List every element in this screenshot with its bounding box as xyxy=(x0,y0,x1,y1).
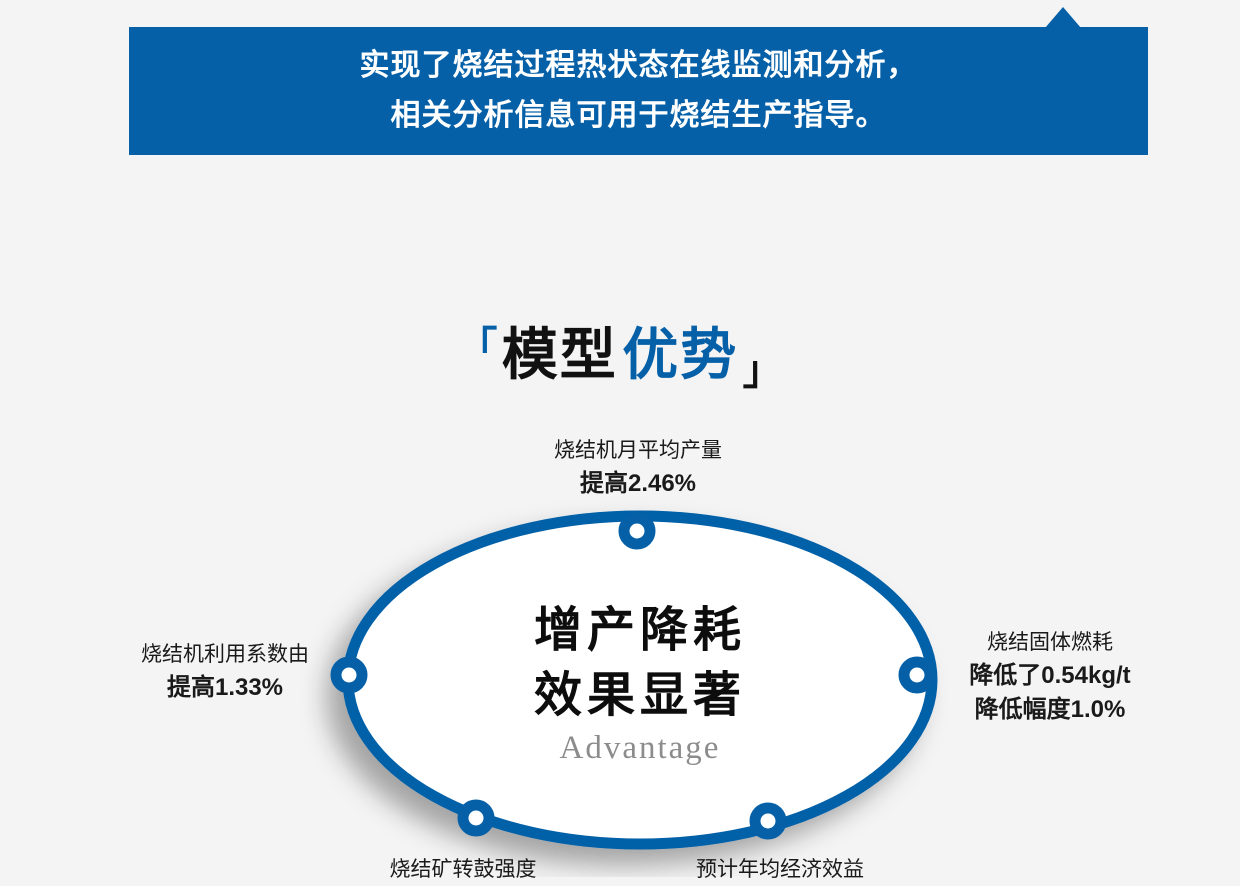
ellipse-shadow-group xyxy=(348,516,932,844)
label-left: 烧结机利用系数由 提高1.33% xyxy=(100,638,350,705)
node-marker-right[interactable] xyxy=(904,662,930,688)
bracket-close-icon: 」 xyxy=(743,349,783,393)
label-bottom-left: 烧结矿转鼓强度 xyxy=(303,853,623,886)
label-top-value: 提高2.46% xyxy=(478,467,798,501)
label-bottom-right-title: 预计年均经济效益 xyxy=(620,853,940,886)
node-marker-bottom-left[interactable] xyxy=(463,805,489,831)
label-right-value: 降低了0.54kg/t xyxy=(930,659,1170,693)
headline-banner-text: 实现了烧结过程热状态在线监测和分析， 相关分析信息可用于烧结生产指导。 xyxy=(129,27,1148,155)
node-marker-bottom-right[interactable] xyxy=(755,808,781,834)
label-right-title: 烧结固体燃耗 xyxy=(930,626,1170,659)
banner-line-2: 相关分析信息可用于烧结生产指导。 xyxy=(391,91,887,141)
label-top-title: 烧结机月平均产量 xyxy=(478,434,798,467)
slide-canvas: 实现了烧结过程热状态在线监测和分析， 相关分析信息可用于烧结生产指导。 「 模型… xyxy=(0,0,1240,877)
headline-banner: 实现了烧结过程热状态在线监测和分析， 相关分析信息可用于烧结生产指导。 xyxy=(129,27,1148,155)
label-right-value-2: 降低幅度1.0% xyxy=(930,693,1170,727)
label-right: 烧结固体燃耗 降低了0.54kg/t 降低幅度1.0% xyxy=(930,626,1170,727)
label-left-title: 烧结机利用系数由 xyxy=(100,638,350,671)
advantage-ellipse xyxy=(348,516,932,844)
label-bottom-right: 预计年均经济效益 xyxy=(620,853,940,886)
triangle-up-icon xyxy=(1045,7,1081,28)
bracket-open-icon: 「 xyxy=(457,325,497,369)
label-left-value: 提高1.33% xyxy=(100,671,350,705)
node-marker-top[interactable] xyxy=(624,518,650,544)
label-top: 烧结机月平均产量 提高2.46% xyxy=(478,434,798,501)
section-heading-accent: 优势 xyxy=(622,323,738,386)
banner-line-1: 实现了烧结过程热状态在线监测和分析， xyxy=(360,41,918,91)
label-bottom-left-title: 烧结矿转鼓强度 xyxy=(303,853,623,886)
section-heading-plain: 模型 xyxy=(502,323,618,386)
section-heading: 「 模型 优势 」 xyxy=(0,310,1240,396)
